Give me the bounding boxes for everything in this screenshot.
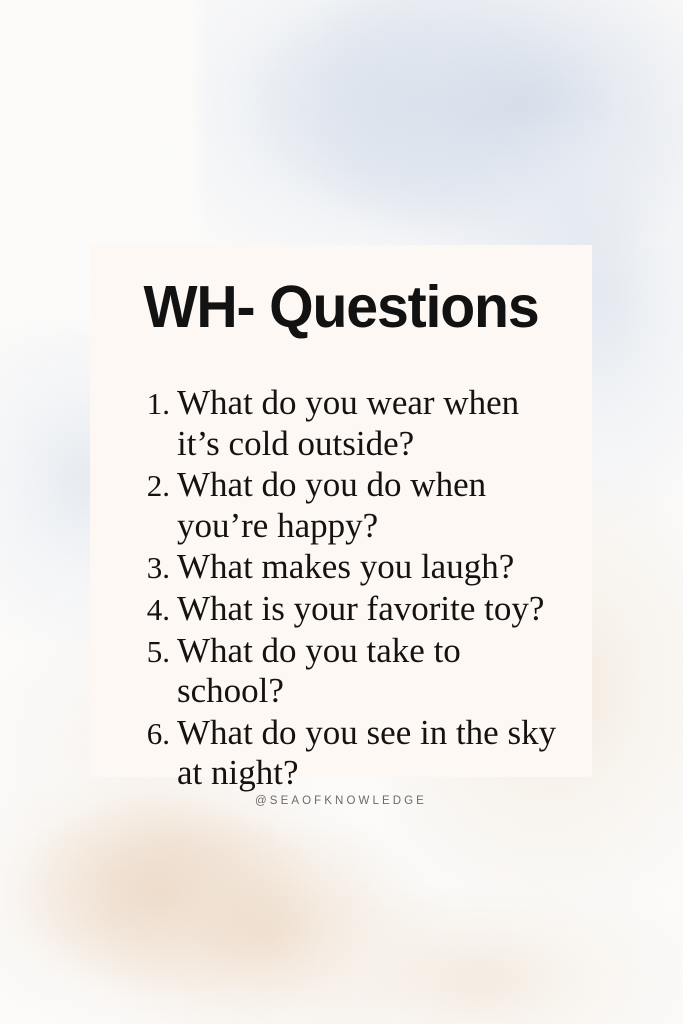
list-item-text: What do you wear when it’s cold outside? <box>177 383 558 464</box>
question-list: 1. What do you wear when it’s cold outsi… <box>120 383 562 795</box>
content-card: WH- Questions 1. What do you wear when i… <box>90 245 592 777</box>
poster-canvas: WH- Questions 1. What do you wear when i… <box>0 0 683 1024</box>
list-item: 5. What do you take to school? <box>138 631 558 712</box>
list-item-text: What do you see in the sky at night? <box>177 713 558 794</box>
list-item-text: What do you take to school? <box>177 631 558 712</box>
list-item-number: 6. <box>138 716 177 752</box>
list-item-number: 2. <box>138 468 177 504</box>
list-item: 1. What do you wear when it’s cold outsi… <box>138 383 558 464</box>
list-item-number: 5. <box>138 634 177 670</box>
list-item-text: What do you do when you’re happy? <box>177 465 558 546</box>
watercolor-wash-peach-bottom-center <box>120 830 450 1024</box>
list-item-number: 4. <box>138 592 177 628</box>
list-item: 6. What do you see in the sky at night? <box>138 713 558 794</box>
watercolor-wash-peach-bottom-right <box>320 900 683 1024</box>
brand-watermark: @SEAOFKNOWLEDGE <box>120 795 562 830</box>
list-item: 4. What is your favorite toy? <box>138 589 558 630</box>
page-title: WH- Questions <box>127 277 556 339</box>
list-item: 2. What do you do when you’re happy? <box>138 465 558 546</box>
list-item-number: 1. <box>138 386 177 422</box>
watercolor-wash-blue-top <box>200 0 683 260</box>
list-item-text: What is your favorite toy? <box>177 589 558 630</box>
watercolor-wash-blue-top-secondary <box>330 0 683 260</box>
list-item: 3. What makes you laugh? <box>138 547 558 588</box>
list-item-text: What makes you laugh? <box>177 547 558 588</box>
list-item-number: 3. <box>138 550 177 586</box>
